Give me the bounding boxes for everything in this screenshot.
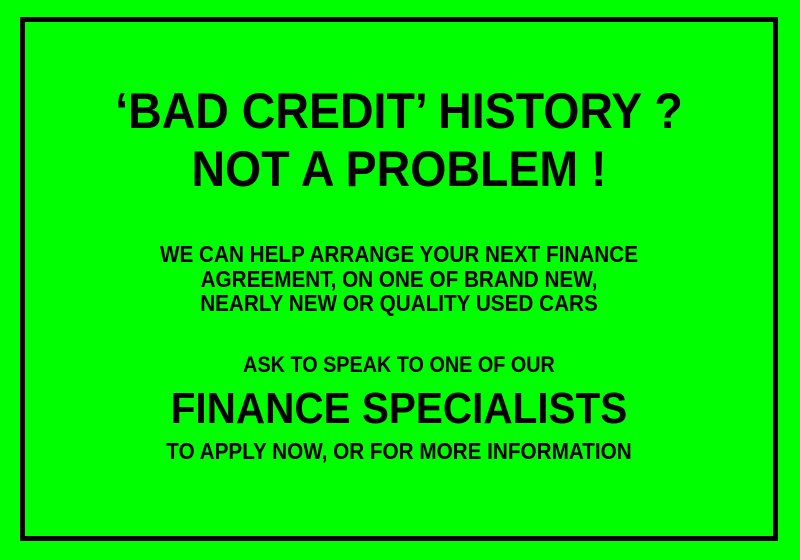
cta-emphasis-line: FINANCE SPECIALISTS [50, 384, 747, 434]
headline-line-1: ‘BAD CREDIT’ HISTORY ? [47, 82, 752, 140]
body-text-block: WE CAN HELP ARRANGE YOUR NEXT FINANCE AG… [20, 242, 778, 316]
cta-intro-line: ASK TO SPEAK TO ONE OF OUR [58, 352, 740, 378]
headline-block: ‘BAD CREDIT’ HISTORY ? NOT A PROBLEM ! [20, 82, 778, 198]
headline-line-2: NOT A PROBLEM ! [47, 140, 752, 198]
cta-footer-line: TO APPLY NOW, OR FOR MORE INFORMATION [58, 438, 740, 465]
advertisement-poster: ‘BAD CREDIT’ HISTORY ? NOT A PROBLEM ! W… [0, 0, 800, 560]
body-line-3: NEARLY NEW OR QUALITY USED CARS [58, 291, 740, 316]
body-line-1: WE CAN HELP ARRANGE YOUR NEXT FINANCE [58, 242, 740, 267]
poster-content: ‘BAD CREDIT’ HISTORY ? NOT A PROBLEM ! W… [20, 17, 778, 541]
body-line-2: AGREEMENT, ON ONE OF BRAND NEW, [58, 267, 740, 292]
call-to-action-block: ASK TO SPEAK TO ONE OF OUR FINANCE SPECI… [20, 352, 778, 465]
